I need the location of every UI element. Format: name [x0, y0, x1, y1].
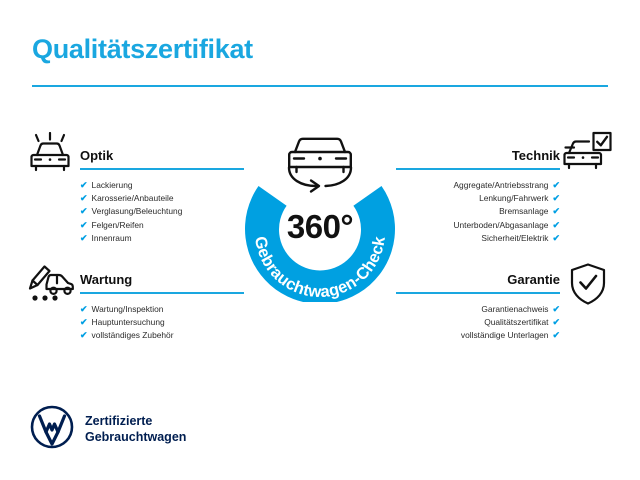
section-title-wartung: Wartung [80, 272, 244, 288]
footer-brand-line1: Zertifizierte [85, 414, 186, 430]
section-optik: Optik ✔Lackierung ✔Karosserie/Anbauteile… [80, 148, 244, 245]
section-divider-garantie [396, 292, 560, 294]
section-list-wartung: ✔Wartung/Inspektion ✔Hauptuntersuchung ✔… [80, 303, 244, 343]
list-item-label: Lenkung/Fahrwerk [479, 192, 548, 205]
list-item-label: vollständiges Zubehör [92, 329, 174, 342]
check-icon: ✔ [552, 179, 560, 192]
section-garantie: Garantie Garantienachweis✔ Qualitätszert… [396, 272, 560, 343]
list-item-label: Garantienachweis [481, 303, 548, 316]
section-title-garantie: Garantie [396, 272, 560, 288]
check-icon: ✔ [80, 192, 88, 205]
list-item-label: Bremsanlage [499, 205, 548, 218]
list-item-label: Verglasung/Beleuchtung [92, 205, 183, 218]
check-icon: ✔ [552, 329, 560, 342]
list-item-label: Wartung/Inspektion [92, 303, 164, 316]
certificate-page: Qualitätszertifikat Optik ✔Lackierung [0, 0, 640, 480]
list-item: ✔Karosserie/Anbauteile [80, 192, 244, 205]
list-item: vollständige Unterlagen✔ [396, 329, 560, 342]
list-item: Sicherheit/Elektrik✔ [396, 232, 560, 245]
list-item: Garantienachweis✔ [396, 303, 560, 316]
section-divider-technik [396, 168, 560, 170]
section-divider-optik [80, 168, 244, 170]
check-icon: ✔ [80, 205, 88, 218]
section-divider-wartung [80, 292, 244, 294]
section-technik: Technik Aggregate/Antriebsstrang✔ Lenkun… [396, 148, 560, 245]
check-icon: ✔ [80, 232, 88, 245]
check-icon: ✔ [80, 219, 88, 232]
list-item: ✔Wartung/Inspektion [80, 303, 244, 316]
list-item: Unterboden/Abgasanlage✔ [396, 219, 560, 232]
list-item-label: Hauptuntersuchung [92, 316, 165, 329]
badge-center-label: 360° [232, 210, 408, 244]
list-item: ✔Felgen/Reifen [80, 219, 244, 232]
volkswagen-logo-icon [30, 405, 74, 454]
list-item: Bremsanlage✔ [396, 205, 560, 218]
list-item-label: Karosserie/Anbauteile [92, 192, 174, 205]
list-item-label: Qualitätszertifikat [484, 316, 548, 329]
list-item: ✔vollständiges Zubehör [80, 329, 244, 342]
check-icon: ✔ [552, 232, 560, 245]
check-icon: ✔ [552, 205, 560, 218]
footer-brand-line2: Gebrauchtwagen [85, 430, 186, 446]
list-item: Lenkung/Fahrwerk✔ [396, 192, 560, 205]
car-checkbox-icon [563, 131, 613, 180]
list-item-label: vollständige Unterlagen [461, 329, 549, 342]
check-icon: ✔ [552, 192, 560, 205]
car-shine-icon [26, 132, 74, 179]
check-icon: ✔ [552, 303, 560, 316]
list-item-label: Lackierung [92, 179, 133, 192]
section-wartung: Wartung ✔Wartung/Inspektion ✔Hauptunters… [80, 272, 244, 343]
list-item-label: Aggregate/Antriebsstrang [453, 179, 548, 192]
car-rotate-icon [289, 139, 351, 192]
check-icon: ✔ [80, 316, 88, 329]
list-item-label: Innenraum [92, 232, 132, 245]
section-title-optik: Optik [80, 148, 244, 164]
footer-brand-text: Zertifizierte Gebrauchtwagen [85, 414, 186, 445]
list-item: Qualitätszertifikat✔ [396, 316, 560, 329]
check-icon: ✔ [80, 329, 88, 342]
list-item-label: Felgen/Reifen [92, 219, 144, 232]
360-check-badge: Gebrauchtwagen-Check 360° [232, 122, 408, 302]
list-item-label: Unterboden/Abgasanlage [453, 219, 548, 232]
header-divider [32, 85, 608, 87]
section-list-technik: Aggregate/Antriebsstrang✔ Lenkung/Fahrwe… [396, 179, 560, 245]
shield-check-icon [568, 262, 608, 311]
section-list-optik: ✔Lackierung ✔Karosserie/Anbauteile ✔Verg… [80, 179, 244, 245]
list-item: Aggregate/Antriebsstrang✔ [396, 179, 560, 192]
section-title-technik: Technik [396, 148, 560, 164]
section-list-garantie: Garantienachweis✔ Qualitätszertifikat✔ v… [396, 303, 560, 343]
check-icon: ✔ [80, 303, 88, 316]
page-title: Qualitätszertifikat [32, 34, 253, 65]
footer-brand: Zertifizierte Gebrauchtwagen [30, 405, 186, 454]
list-item: ✔Hauptuntersuchung [80, 316, 244, 329]
check-icon: ✔ [80, 179, 88, 192]
list-item: ✔Innenraum [80, 232, 244, 245]
list-item: ✔Verglasung/Beleuchtung [80, 205, 244, 218]
list-item-label: Sicherheit/Elektrik [481, 232, 548, 245]
check-icon: ✔ [552, 316, 560, 329]
check-icon: ✔ [552, 219, 560, 232]
list-item: ✔Lackierung [80, 179, 244, 192]
service-book-pen-car-icon [24, 262, 76, 311]
